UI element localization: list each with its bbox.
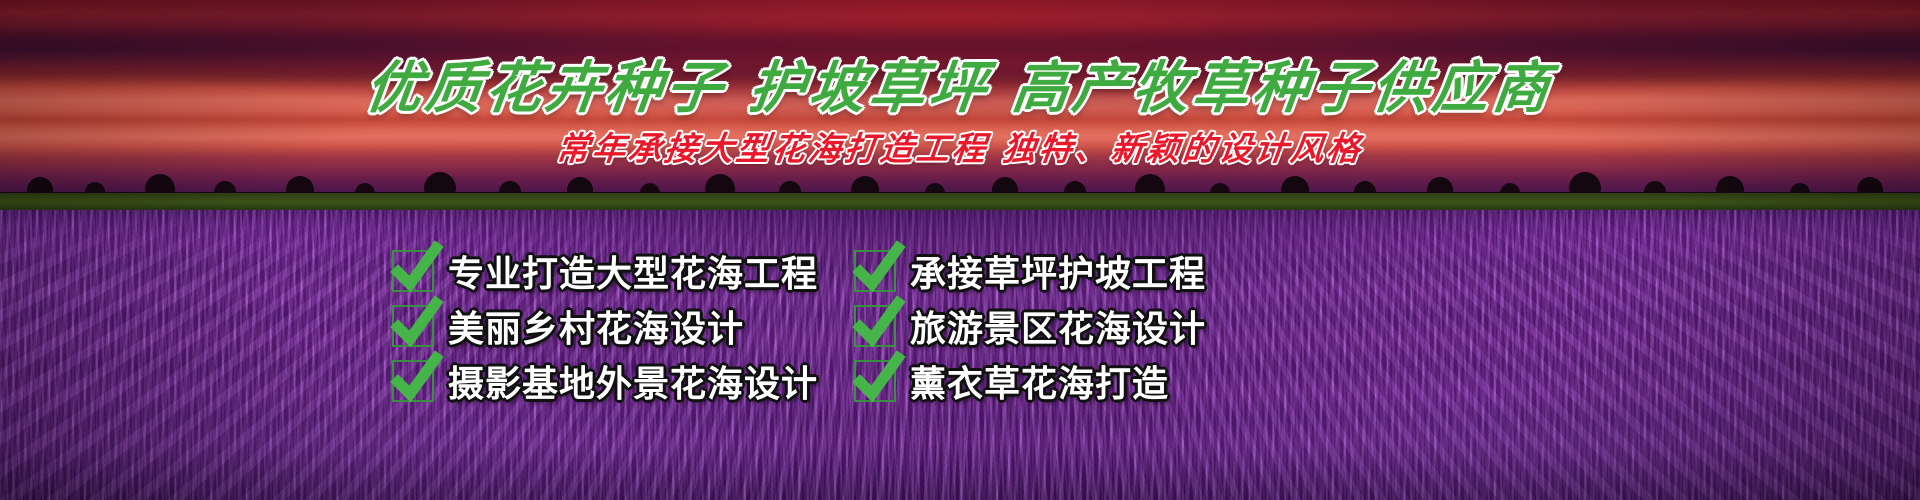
check-icon — [392, 360, 434, 402]
check-icon — [854, 305, 896, 347]
feature-label: 旅游景区花海设计 — [910, 300, 1206, 352]
feature-label: 承接草坪护坡工程 — [910, 245, 1206, 297]
banner-subheadline: 常年承接大型花海打造工程 独特、新颖的设计风格 — [0, 122, 1920, 170]
hero-banner: 优质花卉种子 护坡草坪 高产牧草种子供应商 常年承接大型花海打造工程 独特、新颖… — [0, 0, 1920, 500]
banner-content: 优质花卉种子 护坡草坪 高产牧草种子供应商 常年承接大型花海打造工程 独特、新颖… — [0, 0, 1920, 500]
feature-item: 薰衣草花海打造 — [854, 353, 1169, 408]
check-icon — [392, 250, 434, 292]
banner-headline: 优质花卉种子 护坡草坪 高产牧草种子供应商 — [0, 43, 1920, 124]
feature-label: 摄影基地外景花海设计 — [448, 355, 818, 407]
feature-label: 薰衣草花海打造 — [910, 355, 1169, 407]
feature-checklist: 专业打造大型花海工程 承接草坪护坡工程 美丽乡村花海设计 — [392, 243, 1532, 408]
feature-item: 摄影基地外景花海设计 — [392, 353, 822, 408]
feature-label: 美丽乡村花海设计 — [448, 300, 744, 352]
feature-label: 专业打造大型花海工程 — [448, 245, 818, 297]
feature-item: 美丽乡村花海设计 — [392, 298, 822, 353]
feature-item: 旅游景区花海设计 — [854, 298, 1206, 353]
check-icon — [392, 305, 434, 347]
check-icon — [854, 250, 896, 292]
feature-item: 承接草坪护坡工程 — [854, 243, 1206, 298]
feature-item: 专业打造大型花海工程 — [392, 243, 822, 298]
check-icon — [854, 360, 896, 402]
